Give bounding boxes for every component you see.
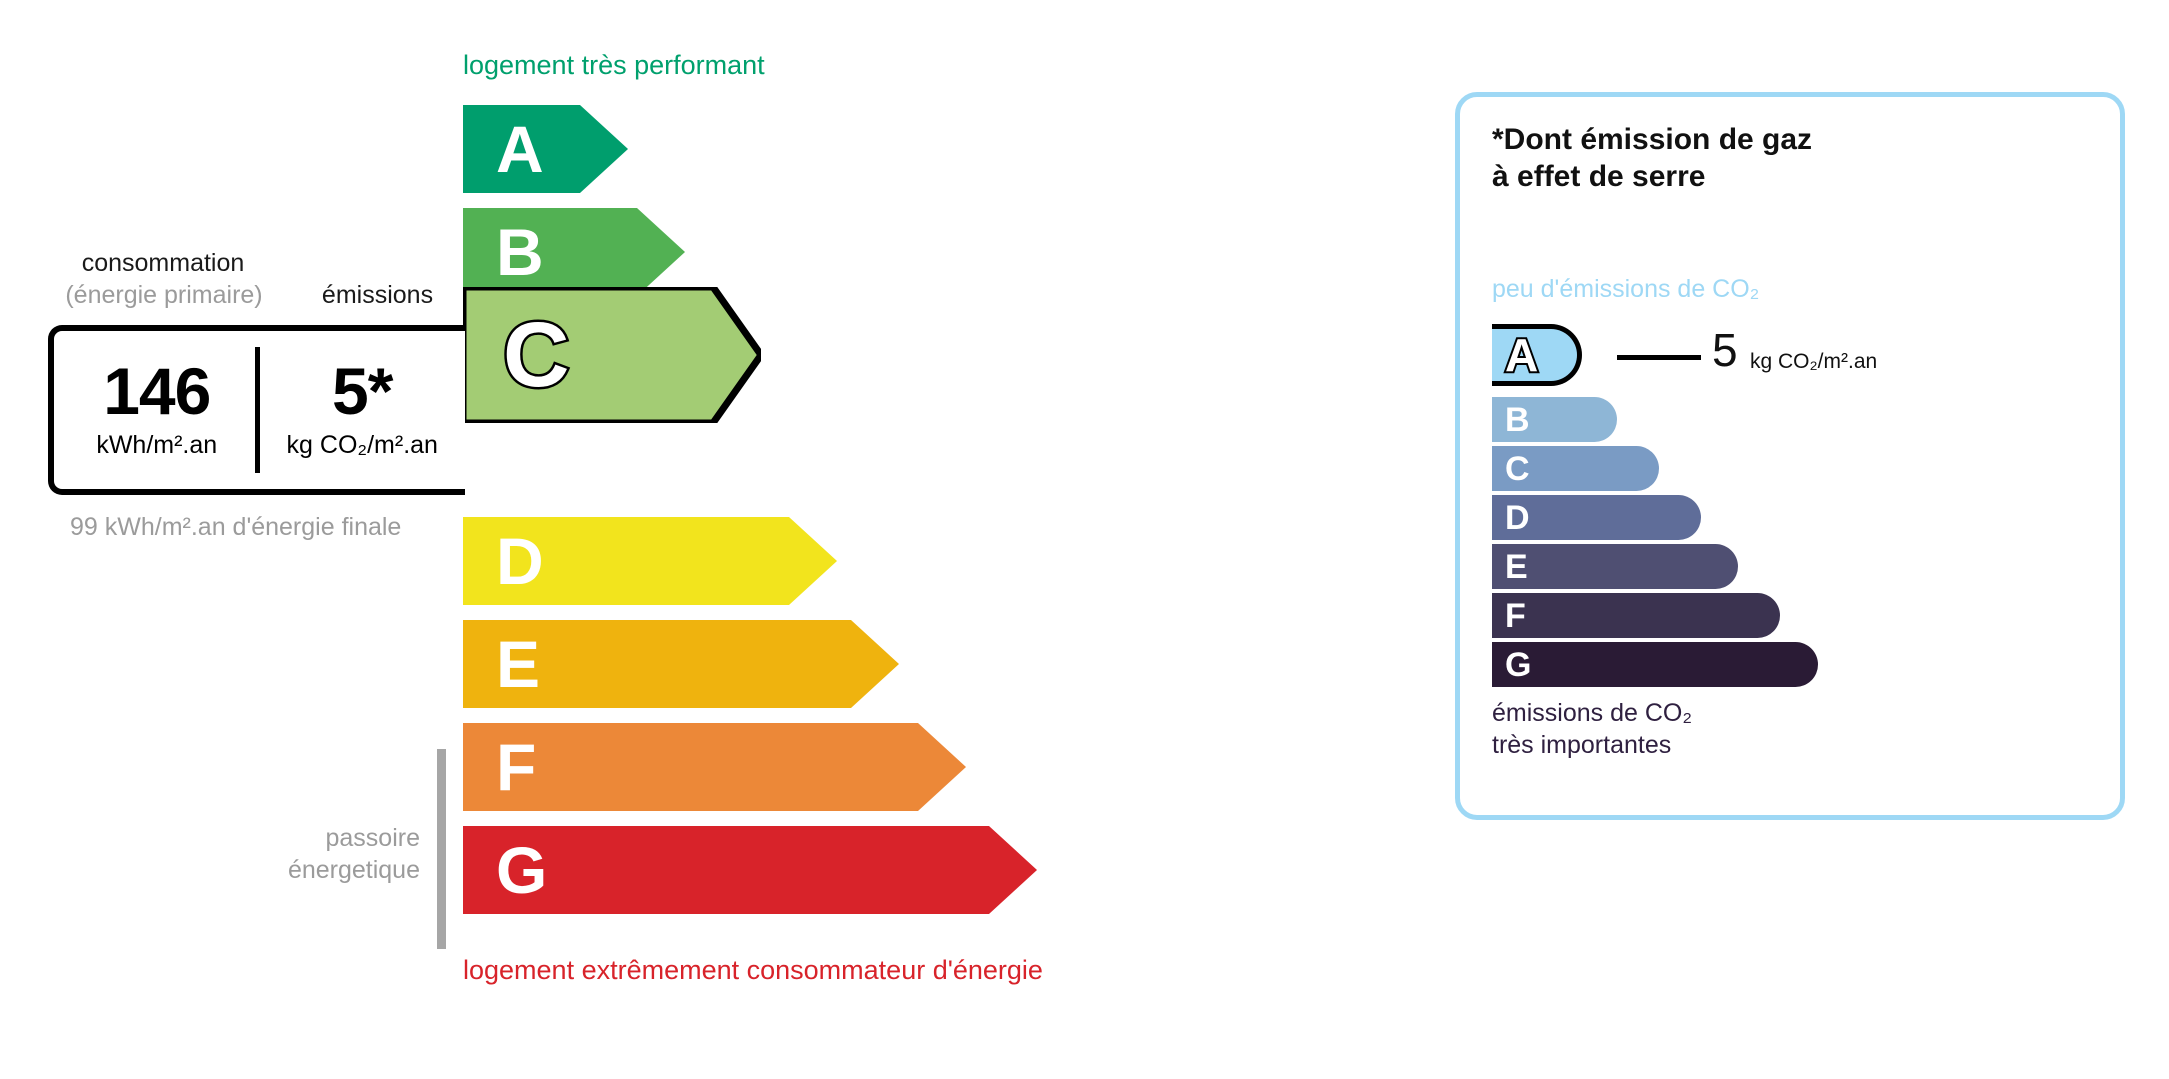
co2-bar-f: F [1492, 593, 1780, 638]
bar-shape-f [463, 723, 966, 811]
energy-bar-e: E [463, 620, 899, 708]
scale-bottom-label: logement extrêmement consommateur d'éner… [463, 955, 1043, 986]
bar-shape-b [463, 208, 685, 296]
passoire-marker-bar [437, 749, 446, 949]
co2-value-unit: kg CO₂/m².an [1750, 350, 1877, 374]
energy-bar-d: D [463, 517, 837, 605]
emissions-unit: kg CO₂/m².an [287, 431, 438, 460]
co2-connector-line [1617, 355, 1701, 360]
co2-bar-shape-e [1492, 544, 1738, 589]
consumption-label: consommation [68, 249, 258, 278]
passoire-label: passoire énergetique [200, 822, 420, 886]
bar-shape-d [463, 517, 837, 605]
co2-bar-letter-c: C [1505, 452, 1530, 486]
emissions-value: 5* [332, 360, 392, 423]
energy-bar-a: A [463, 105, 628, 193]
consumption-unit: kWh/m².an [96, 431, 217, 460]
co2-bar-shape-g [1492, 642, 1818, 687]
value-readout-box: 146 kWh/m².an 5* kg CO₂/m².an [48, 325, 465, 495]
consumption-cell: 146 kWh/m².an [54, 331, 260, 489]
primary-energy-label: (énergie primaire) [48, 281, 280, 310]
co2-bottom-label: émissions de CO₂ très importantes [1492, 697, 1692, 761]
co2-bar-letter-b: B [1505, 403, 1530, 437]
energy-bar-b: B [463, 208, 685, 296]
co2-bar-shape-f [1492, 593, 1780, 638]
scale-top-label: logement très performant [463, 50, 765, 81]
co2-bar-b: B [1492, 397, 1617, 442]
bar-shape-a [463, 105, 628, 193]
co2-bar-g: G [1492, 642, 1818, 687]
co2-bar-a: A [1492, 324, 1582, 386]
bar-shape-g [463, 826, 1037, 914]
emissions-label: émissions [290, 281, 465, 310]
consumption-value: 146 [103, 360, 210, 423]
dpe-diagram: logement très performant ABCDEFG 146 kWh… [0, 0, 2169, 1079]
co2-bar-letter-a: A [1505, 332, 1538, 378]
co2-bar-letter-f: F [1505, 599, 1526, 633]
co2-top-label: peu d'émissions de CO₂ [1492, 275, 1759, 304]
co2-bar-e: E [1492, 544, 1738, 589]
co2-panel-title: *Dont émission de gaz à effet de serre [1492, 122, 1812, 195]
energy-bar-c: C [463, 287, 761, 423]
co2-bar-letter-d: D [1505, 501, 1530, 535]
energy-bar-g: G [463, 826, 1037, 914]
bar-shape-c [463, 287, 761, 423]
co2-bar-letter-e: E [1505, 550, 1528, 584]
emissions-cell: 5* kg CO₂/m².an [260, 331, 466, 489]
energy-bar-f: F [463, 723, 966, 811]
co2-value: 5 [1712, 327, 1738, 373]
final-energy-note: 99 kWh/m².an d'énergie finale [70, 511, 401, 543]
co2-bar-d: D [1492, 495, 1701, 540]
co2-bar-letter-g: G [1505, 648, 1531, 682]
bar-shape-e [463, 620, 899, 708]
co2-bar-c: C [1492, 446, 1659, 491]
